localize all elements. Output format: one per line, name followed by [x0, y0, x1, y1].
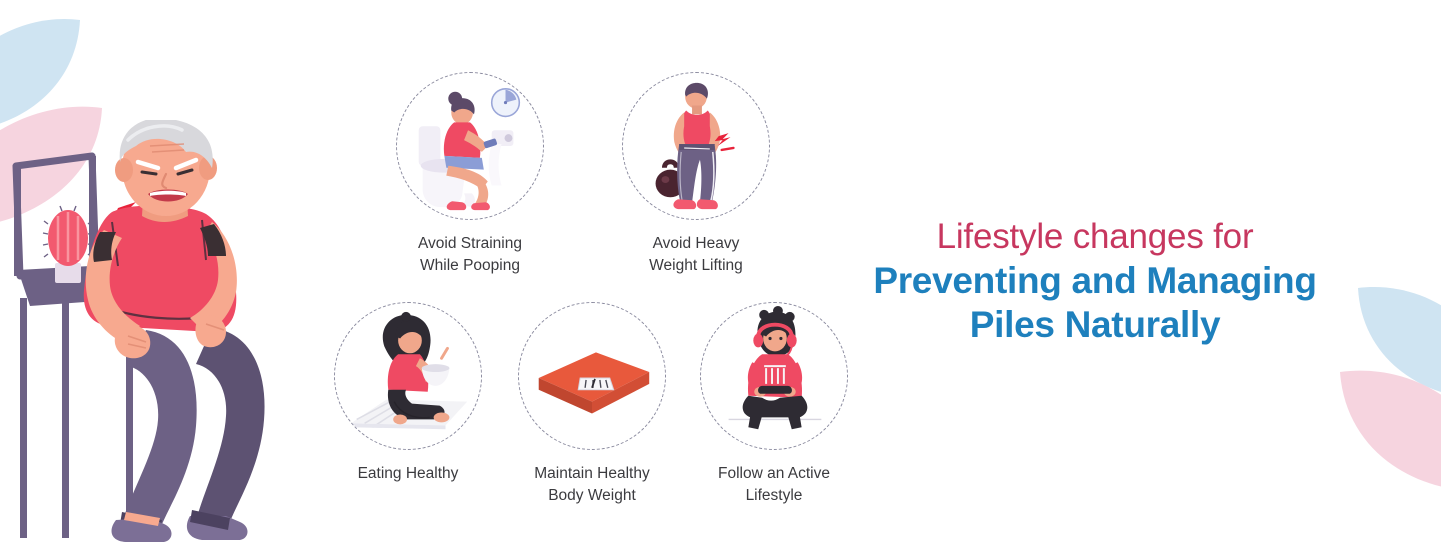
elderly-man — [84, 120, 265, 542]
woman-figure — [383, 312, 450, 424]
clock-icon — [492, 89, 520, 117]
weighing-scale — [539, 352, 649, 413]
person-figure — [743, 306, 808, 429]
icon-label: Maintain Healthy Body Weight — [504, 463, 680, 507]
icon-cell-active-lifestyle[interactable]: Follow an Active Lifestyle — [686, 302, 862, 507]
lifestyle-icon-grid: Avoid Straining While Pooping — [310, 60, 860, 520]
man-figure — [673, 83, 720, 209]
bathroom-weighing-scale-icon — [518, 302, 666, 450]
icon-cell-avoid-heavy-lifting[interactable]: Avoid Heavy Weight Lifting — [608, 72, 784, 277]
icon-cell-maintain-weight[interactable]: Maintain Healthy Body Weight — [504, 302, 680, 507]
icon-label: Follow an Active Lifestyle — [686, 463, 862, 507]
petal-bottom-right-pink — [1340, 368, 1441, 496]
infographic-page: Avoid Straining While Pooping — [0, 0, 1441, 542]
title-block: Lifestyle changes for Preventing and Man… — [855, 215, 1335, 347]
icon-cell-avoid-straining[interactable]: Avoid Straining While Pooping — [382, 72, 558, 277]
icon-label: Avoid Straining While Pooping — [382, 233, 558, 277]
petal-bottom-right-blue — [1358, 286, 1441, 401]
person-with-headphones-gaming-icon — [700, 302, 848, 450]
icon-label: Eating Healthy — [320, 463, 496, 485]
elderly-man-illustration — [0, 120, 320, 542]
icon-label: Avoid Heavy Weight Lifting — [608, 233, 784, 277]
man-with-kettlebell-back-pain-icon — [622, 72, 770, 220]
page-title-line-3: Piles Naturally — [855, 303, 1335, 347]
page-title-line-2: Preventing and Managing — [855, 259, 1335, 303]
page-title-line-1: Lifestyle changes for — [855, 215, 1335, 259]
woman-eating-bowl-icon — [334, 302, 482, 450]
icon-cell-eating-healthy[interactable]: Eating Healthy — [320, 302, 496, 485]
woman-on-toilet-with-phone-icon — [396, 72, 544, 220]
